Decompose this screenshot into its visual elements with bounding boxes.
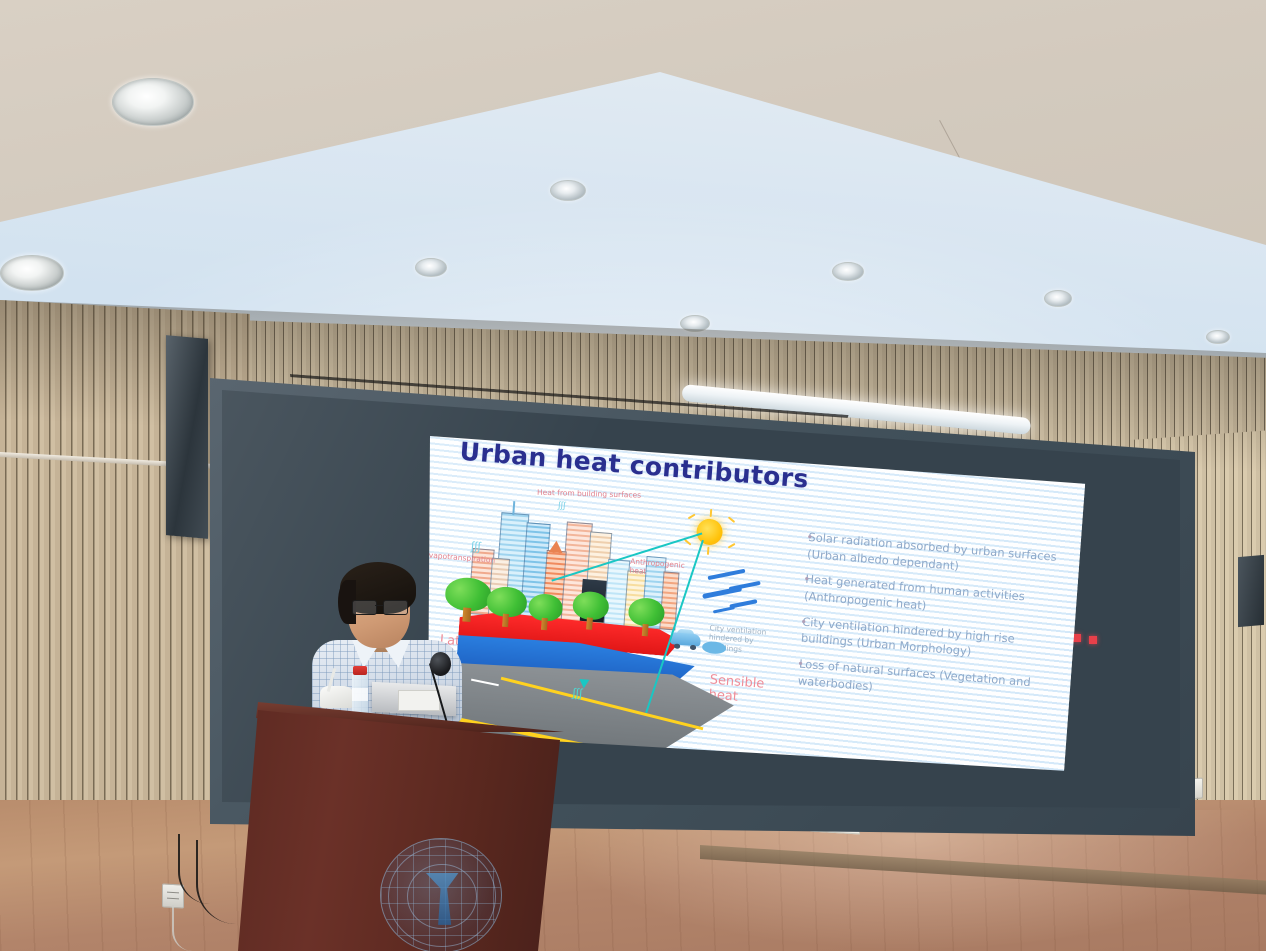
university-emblem	[380, 838, 502, 951]
wind-arrow	[707, 569, 745, 580]
wall-speaker-left-icon	[166, 335, 208, 539]
ceiling-downlight	[550, 180, 586, 201]
car-icon	[670, 628, 701, 650]
sun-ray	[728, 543, 736, 549]
tissue-box	[320, 686, 354, 708]
sun-ray	[710, 509, 713, 517]
heat-wave-glyph: ∫∫∫	[572, 688, 582, 697]
tree-icon	[571, 590, 610, 631]
ceiling-downlight	[1044, 290, 1072, 307]
ceiling-downlight	[112, 78, 194, 126]
heat-wave-glyph: ∫∫∫	[471, 542, 481, 551]
ceiling-downlight	[680, 315, 710, 332]
tree-icon	[485, 585, 528, 628]
led-indicator	[1089, 636, 1097, 644]
slide-bullet-list: Solar radiation absorbed by urban surfac…	[781, 528, 1071, 719]
tree-icon	[527, 593, 564, 632]
tree-icon	[627, 597, 666, 638]
sun-ray	[707, 547, 710, 555]
wall-speaker-right-icon	[1238, 555, 1264, 627]
sun-ray	[688, 514, 696, 520]
name-placard	[398, 690, 440, 711]
wind-arrow	[702, 586, 742, 599]
ceiling-downlight	[0, 255, 64, 291]
sun-ray	[728, 516, 735, 523]
microphone-icon[interactable]	[430, 652, 451, 676]
sun-ray	[684, 539, 691, 546]
glasses-icon	[352, 600, 406, 613]
lecture-hall-scene: Urban heat contributors	[0, 0, 1266, 951]
heat-wave-glyph: ∫∫∫	[558, 501, 566, 510]
label-heat-from-building-surfaces: Heat from building surfaces	[537, 488, 641, 500]
ceiling-downlight	[1206, 330, 1230, 344]
ceiling-downlight	[415, 258, 447, 277]
sun-icon	[696, 518, 724, 546]
ceiling-downlight	[832, 262, 864, 281]
bottle-label	[352, 688, 368, 701]
building-roof	[549, 540, 564, 553]
wind-arrow	[713, 606, 735, 613]
bottle-cap	[353, 666, 367, 675]
